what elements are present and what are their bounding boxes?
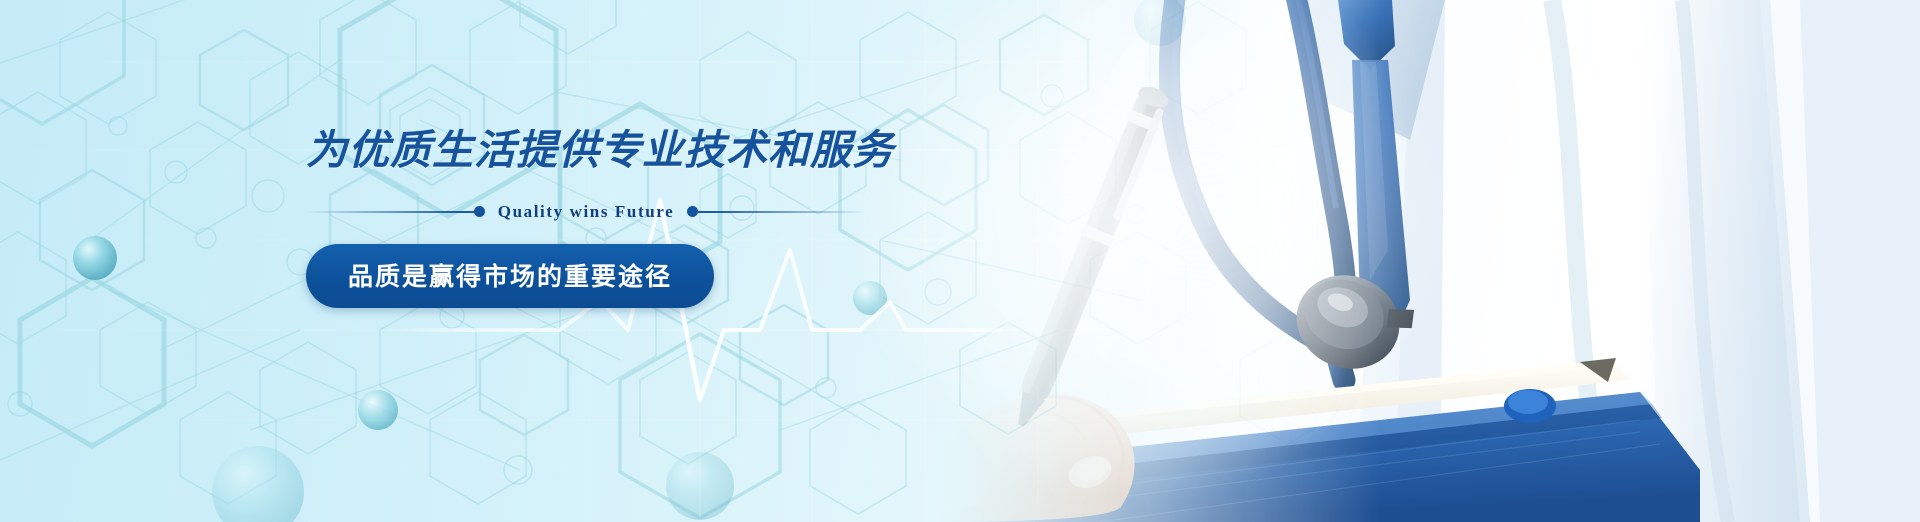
banner-headline: 为优质生活提供专业技术和服务 — [306, 128, 946, 174]
banner-subtitle: Quality wins Future — [485, 202, 688, 222]
divider-dot-left — [474, 206, 485, 217]
banner-content: 为优质生活提供专业技术和服务 Quality wins Future 品质是赢得… — [306, 128, 946, 308]
divider-rule-right — [698, 211, 866, 213]
doctor-with-clipboard-photo — [940, 0, 1920, 522]
subtitle-divider: Quality wins Future — [306, 202, 866, 222]
divider-rule-left — [306, 211, 474, 213]
banner-cta-button[interactable]: 品质是赢得市场的重要途径 — [306, 244, 714, 308]
divider-dot-right — [687, 206, 698, 217]
hero-banner: 为优质生活提供专业技术和服务 Quality wins Future 品质是赢得… — [0, 0, 1920, 522]
